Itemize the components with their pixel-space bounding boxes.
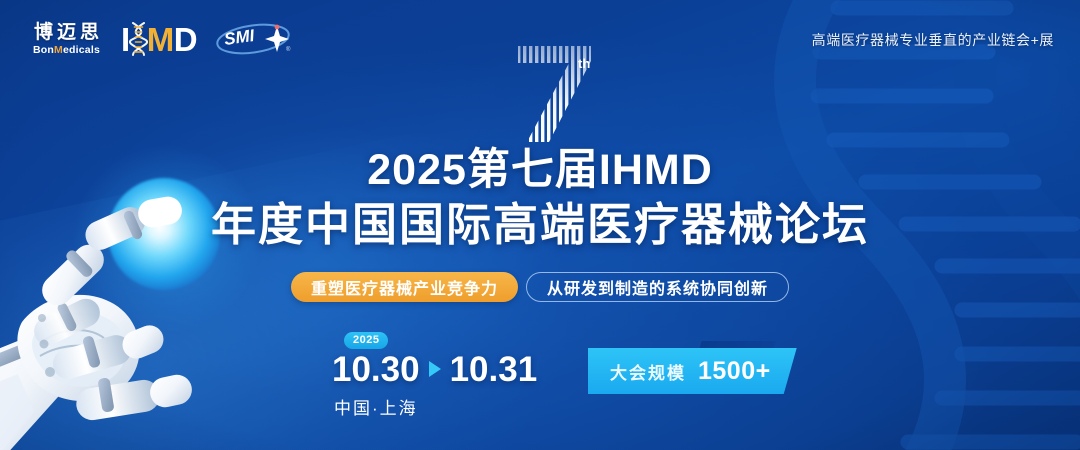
logo-bar: 博迈思 BonMedicals I [30, 22, 293, 56]
logo-bonmedicals-en: BonMedicals [33, 45, 100, 56]
logo-bonmedicals-en-mark: M [54, 44, 63, 56]
logo-bonmedicals-cn: 博迈思 [30, 23, 103, 42]
logo-bonmedicals-en-post: edicals [63, 44, 100, 56]
conference-banner: 博迈思 BonMedicals I [0, 0, 1080, 450]
event-year-badge: 2025 [344, 332, 388, 349]
arrow-right-icon [429, 361, 441, 377]
scale-banner: 大会规模 1500+ [588, 348, 797, 394]
event-date-line: 10.30 10.31 [332, 352, 537, 387]
event-date-block: 2025 10.30 10.31 中国·上海 [332, 330, 537, 419]
logo-bonmedicals: 博迈思 BonMedicals [30, 23, 103, 56]
dna-helix-icon [129, 22, 148, 56]
header-tagline: 高端医疗器械专业垂直的产业链会+展 [812, 30, 1054, 50]
event-location: 中国·上海 [334, 394, 537, 419]
logo-bonmedicals-en-pre: Bon [33, 44, 54, 56]
logo-ihmd: I M D [121, 22, 197, 56]
edition-ordinal-suffix: th [578, 56, 590, 71]
theme-pill-primary[interactable]: 重塑医疗器械产业竞争力 [291, 272, 518, 302]
event-date-end: 10.31 [450, 352, 538, 387]
logo-smi: SMI ® [215, 23, 293, 55]
scale-banner-value: 1500+ [698, 357, 771, 386]
svg-text:®: ® [286, 46, 291, 53]
logo-ihmd-letter-m: M [147, 23, 174, 56]
robot-hand-illustration [0, 136, 248, 450]
scale-banner-label: 大会规模 [610, 359, 686, 384]
svg-text:SMI: SMI [223, 26, 257, 49]
theme-pill-secondary[interactable]: 从研发到制造的系统协同创新 [526, 272, 789, 302]
edition-seven-mark: th [505, 44, 615, 144]
logo-ihmd-letter-d: D [174, 23, 197, 56]
event-date-start: 10.30 [332, 352, 420, 387]
